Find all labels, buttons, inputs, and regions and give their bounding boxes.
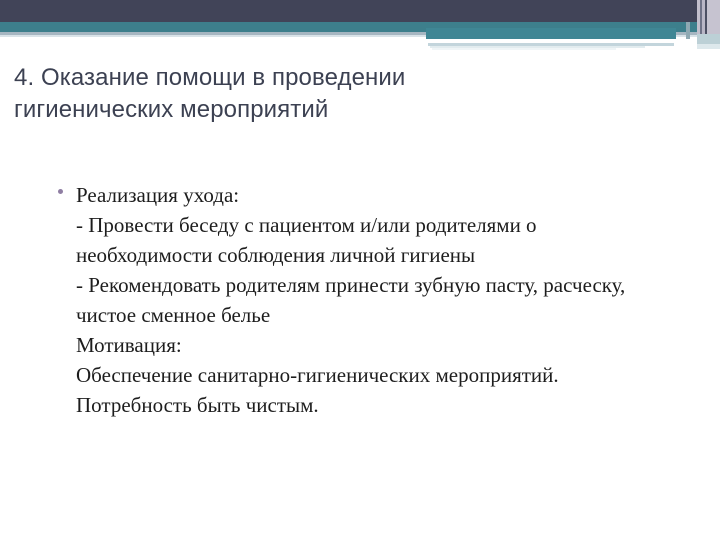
list-item: Реализация ухода: - Провести беседу с па… [58,180,678,420]
slide-canvas: 4. Оказание помощи в проведении гигиенич… [0,0,720,540]
accent-rule-three [432,48,616,50]
bullet-dot-icon [58,180,76,194]
corner-stripe-pale [697,44,720,49]
list-item-text: Реализация ухода: - Провести беседу с па… [76,180,678,420]
corner-stripe-5 [707,0,720,34]
slide-title: 4. Оказание помощи в проведении гигиенич… [14,62,514,126]
accent-teal-bar [426,28,676,39]
corner-stripe-teal [697,34,720,44]
accent-tick-mark [686,22,690,39]
header-dark-band [0,0,720,22]
slide-body: Реализация ухода: - Провести беседу с па… [58,180,678,420]
